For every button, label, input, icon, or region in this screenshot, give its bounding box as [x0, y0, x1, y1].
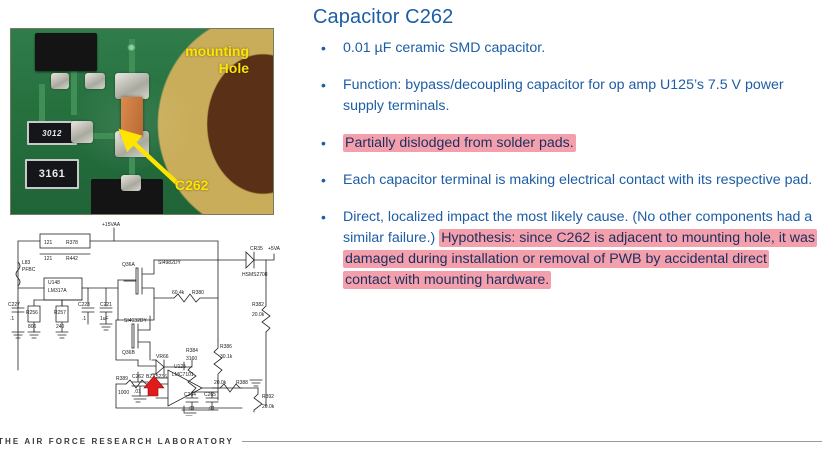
- bullet-text-function: Function: bypass/decoupling capacitor fo…: [343, 75, 815, 117]
- bullet-glyph: •: [315, 75, 343, 117]
- svg-text:R378: R378: [66, 240, 78, 246]
- list-item: • 0.01 µF ceramic SMD capacitor.: [315, 38, 815, 59]
- svg-text:Q36B: Q36B: [122, 350, 135, 356]
- mounting-hole-label: mounting Hole: [157, 43, 249, 77]
- bullet-text-spec: 0.01 µF ceramic SMD capacitor.: [343, 38, 815, 59]
- svg-text:C223: C223: [78, 302, 90, 308]
- svg-text:.1: .1: [10, 316, 14, 322]
- svg-text:R384: R384: [186, 348, 198, 354]
- svg-text:30.1k: 30.1k: [220, 354, 233, 360]
- schematic-svg: +15VAA 121R378 121R442 L83PFBC U148LM317…: [6, 220, 298, 416]
- svg-text:R257: R257: [54, 310, 66, 316]
- photo-resistor-3161: 3161: [25, 159, 79, 189]
- photo-resistor-3012: 3012: [27, 121, 77, 145]
- svg-text:HSMS2708: HSMS2708: [242, 272, 268, 278]
- pcb-photograph: 3012 3161 mounting Hole C262: [10, 28, 274, 215]
- solder-pad: [85, 73, 105, 89]
- svg-text:LMC7101: LMC7101: [172, 372, 194, 378]
- schematic-label: +15VAA: [102, 222, 121, 228]
- svg-text:C221: C221: [100, 302, 112, 308]
- svg-text:C265: C265: [204, 392, 216, 398]
- mounting-hole-label-line1: mounting: [157, 43, 249, 60]
- svg-text:806: 806: [28, 324, 37, 330]
- svg-text:R256: R256: [26, 310, 38, 316]
- svg-text:SI4982DY: SI4982DY: [158, 260, 181, 266]
- bullet-glyph: •: [315, 207, 343, 291]
- bullet-text-contact: Each capacitor terminal is making electr…: [343, 170, 815, 191]
- svg-text:.1: .1: [82, 316, 86, 322]
- list-item: • Partially dislodged from solder pads.: [315, 133, 815, 154]
- svg-text:.01: .01: [208, 406, 215, 412]
- list-item: • Each capacitor terminal is making elec…: [315, 170, 815, 191]
- svg-text:240: 240: [56, 324, 65, 330]
- svg-text:C227: C227: [8, 302, 20, 308]
- bullet-glyph: •: [315, 133, 343, 154]
- svg-text:R442: R442: [66, 256, 78, 262]
- svg-text:PFBC: PFBC: [22, 267, 36, 273]
- bullet-glyph: •: [315, 170, 343, 191]
- footer: THE AIR FORCE RESEARCH LABORATORY: [0, 437, 822, 446]
- svg-text:.01: .01: [134, 389, 141, 395]
- bullet-text-dislodged: Partially dislodged from solder pads.: [343, 133, 815, 154]
- photo-c262-label: C262: [175, 177, 208, 193]
- photo-ic-top: [35, 33, 97, 71]
- list-item: • Direct, localized impact the most like…: [315, 207, 815, 291]
- svg-text:C264: C264: [184, 392, 196, 398]
- svg-text:1000: 1000: [118, 390, 129, 396]
- svg-text:VR66: VR66: [156, 354, 169, 360]
- svg-text:C262: C262: [132, 374, 144, 380]
- svg-text:+5VA: +5VA: [268, 246, 281, 252]
- svg-text:.01: .01: [188, 406, 195, 412]
- svg-text:R389: R389: [116, 376, 128, 382]
- svg-text:20.0k: 20.0k: [262, 404, 275, 410]
- svg-text:R392: R392: [262, 394, 274, 400]
- bullet-glyph: •: [315, 38, 343, 59]
- svg-text:U125: U125: [174, 364, 186, 370]
- footer-divider: [242, 441, 822, 442]
- svg-text:LM317A: LM317A: [48, 288, 67, 294]
- circuit-schematic: +15VAA 121R378 121R442 L83PFBC U148LM317…: [6, 220, 298, 416]
- bullet-segment: Each capacitor terminal is making electr…: [343, 172, 812, 188]
- svg-text:U148: U148: [48, 280, 60, 286]
- bullet-segment-highlighted: Partially dislodged from solder pads.: [343, 134, 576, 152]
- svg-text:121: 121: [44, 256, 53, 262]
- solder-pad: [51, 73, 69, 89]
- svg-text:1uF: 1uF: [100, 316, 109, 322]
- svg-text:R380: R380: [192, 290, 204, 296]
- mounting-hole-label-line2: Hole: [157, 60, 249, 77]
- svg-text:R388: R388: [236, 380, 248, 386]
- slide-root: 3012 3161 mounting Hole C262: [0, 0, 822, 454]
- page-title: Capacitor C262: [313, 6, 453, 29]
- svg-text:60.4k: 60.4k: [172, 290, 185, 296]
- bullet-list: • 0.01 µF ceramic SMD capacitor. • Funct…: [315, 38, 815, 307]
- svg-text:R386: R386: [220, 344, 232, 350]
- solder-pad: [71, 121, 93, 143]
- svg-text:L83: L83: [22, 260, 31, 266]
- bullet-segment: 0.01 µF ceramic SMD capacitor.: [343, 40, 545, 56]
- svg-text:20.0k: 20.0k: [214, 380, 227, 386]
- footer-text: THE AIR FORCE RESEARCH LABORATORY: [0, 437, 234, 446]
- pcb-via: [127, 43, 136, 52]
- svg-text:R382: R382: [252, 302, 264, 308]
- svg-text:121: 121: [44, 240, 53, 246]
- solder-pad: [115, 73, 149, 99]
- svg-text:20.0k: 20.0k: [252, 312, 265, 318]
- svg-text:3160: 3160: [186, 356, 197, 362]
- list-item: • Function: bypass/decoupling capacitor …: [315, 75, 815, 117]
- bullet-segment: Function: bypass/decoupling capacitor fo…: [343, 77, 784, 114]
- svg-text:CR35: CR35: [250, 246, 263, 252]
- svg-text:SI4982DY: SI4982DY: [124, 318, 147, 324]
- pcb-trace: [71, 69, 77, 115]
- svg-text:Q36A: Q36A: [122, 262, 135, 268]
- bullet-text-cause: Direct, localized impact the most likely…: [343, 207, 815, 291]
